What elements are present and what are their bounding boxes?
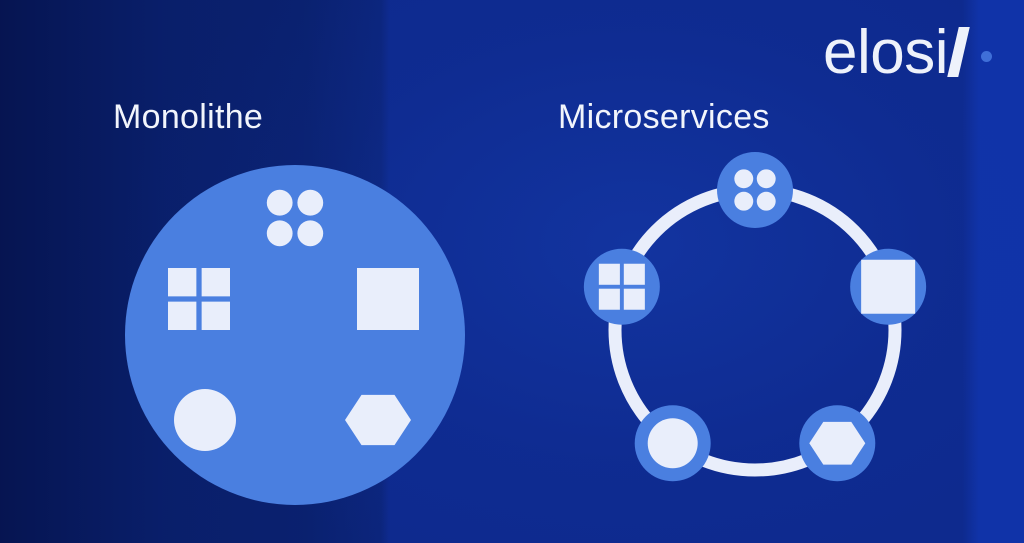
logo-slash-icon bbox=[947, 27, 970, 77]
slide-canvas: elosi Monolithe Microservices bbox=[0, 0, 1024, 543]
logo-wordmark: elosi bbox=[823, 22, 948, 84]
microservices-title: Microservices bbox=[558, 98, 770, 137]
logo-dot-icon bbox=[981, 51, 992, 62]
elosi-logo[interactable]: elosi bbox=[823, 22, 992, 84]
monolith-title: Monolithe bbox=[113, 98, 263, 137]
